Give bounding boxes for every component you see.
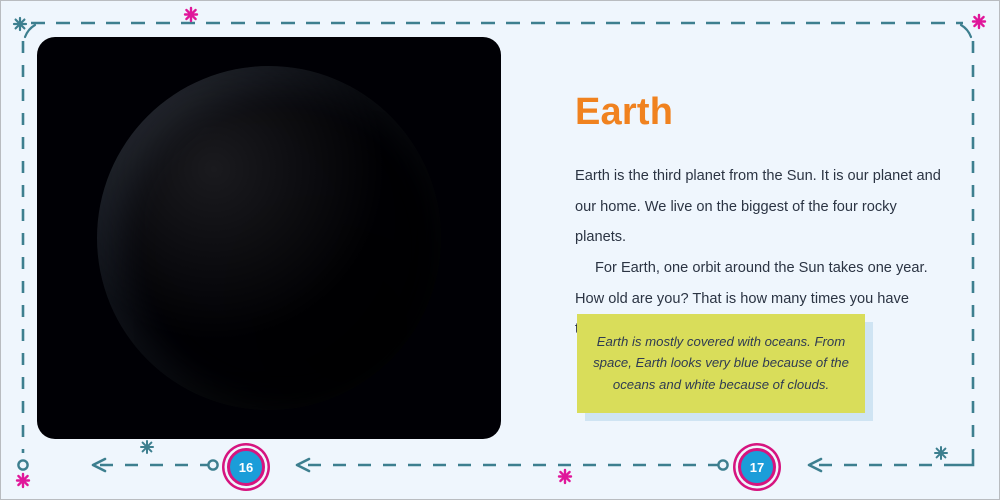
earth-globe (97, 66, 441, 410)
endpoint-circle-before-badge-16 (208, 460, 217, 469)
endpoint-circle-before-badge-17 (718, 460, 727, 469)
book-page-spread: Earth Earth is the third planet from the… (0, 0, 1000, 500)
arrowhead-bottom-right (809, 459, 821, 471)
earth-photo (37, 37, 501, 439)
star-magenta-bottom-left (17, 474, 29, 487)
star-teal-bottom-right (935, 447, 947, 459)
endpoint-circle-left (18, 460, 27, 469)
star-magenta-top (185, 8, 197, 21)
body-paragraph-1: Earth is the third planet from the Sun. … (575, 161, 947, 253)
corner-square-bottom-right (957, 449, 973, 465)
star-teal-top-left (14, 18, 26, 30)
page-title: Earth (575, 93, 947, 131)
star-magenta-top-right (973, 15, 985, 28)
page-number-badge-left[interactable]: 16 (227, 448, 265, 486)
corner-arc-top-left (25, 25, 35, 37)
fact-callout: Earth is mostly covered with oceans. Fro… (577, 314, 865, 413)
arrowhead-bottom-left (93, 459, 105, 471)
page-number-badge-right[interactable]: 17 (738, 448, 776, 486)
text-column: Earth Earth is the third planet from the… (575, 93, 947, 345)
star-magenta-bottom-middle (559, 470, 571, 483)
arrowhead-bottom-middle (297, 459, 309, 471)
star-teal-bottom-left (141, 441, 153, 453)
globe-terminator-shading (97, 66, 441, 410)
corner-arc-top-right (961, 25, 971, 37)
